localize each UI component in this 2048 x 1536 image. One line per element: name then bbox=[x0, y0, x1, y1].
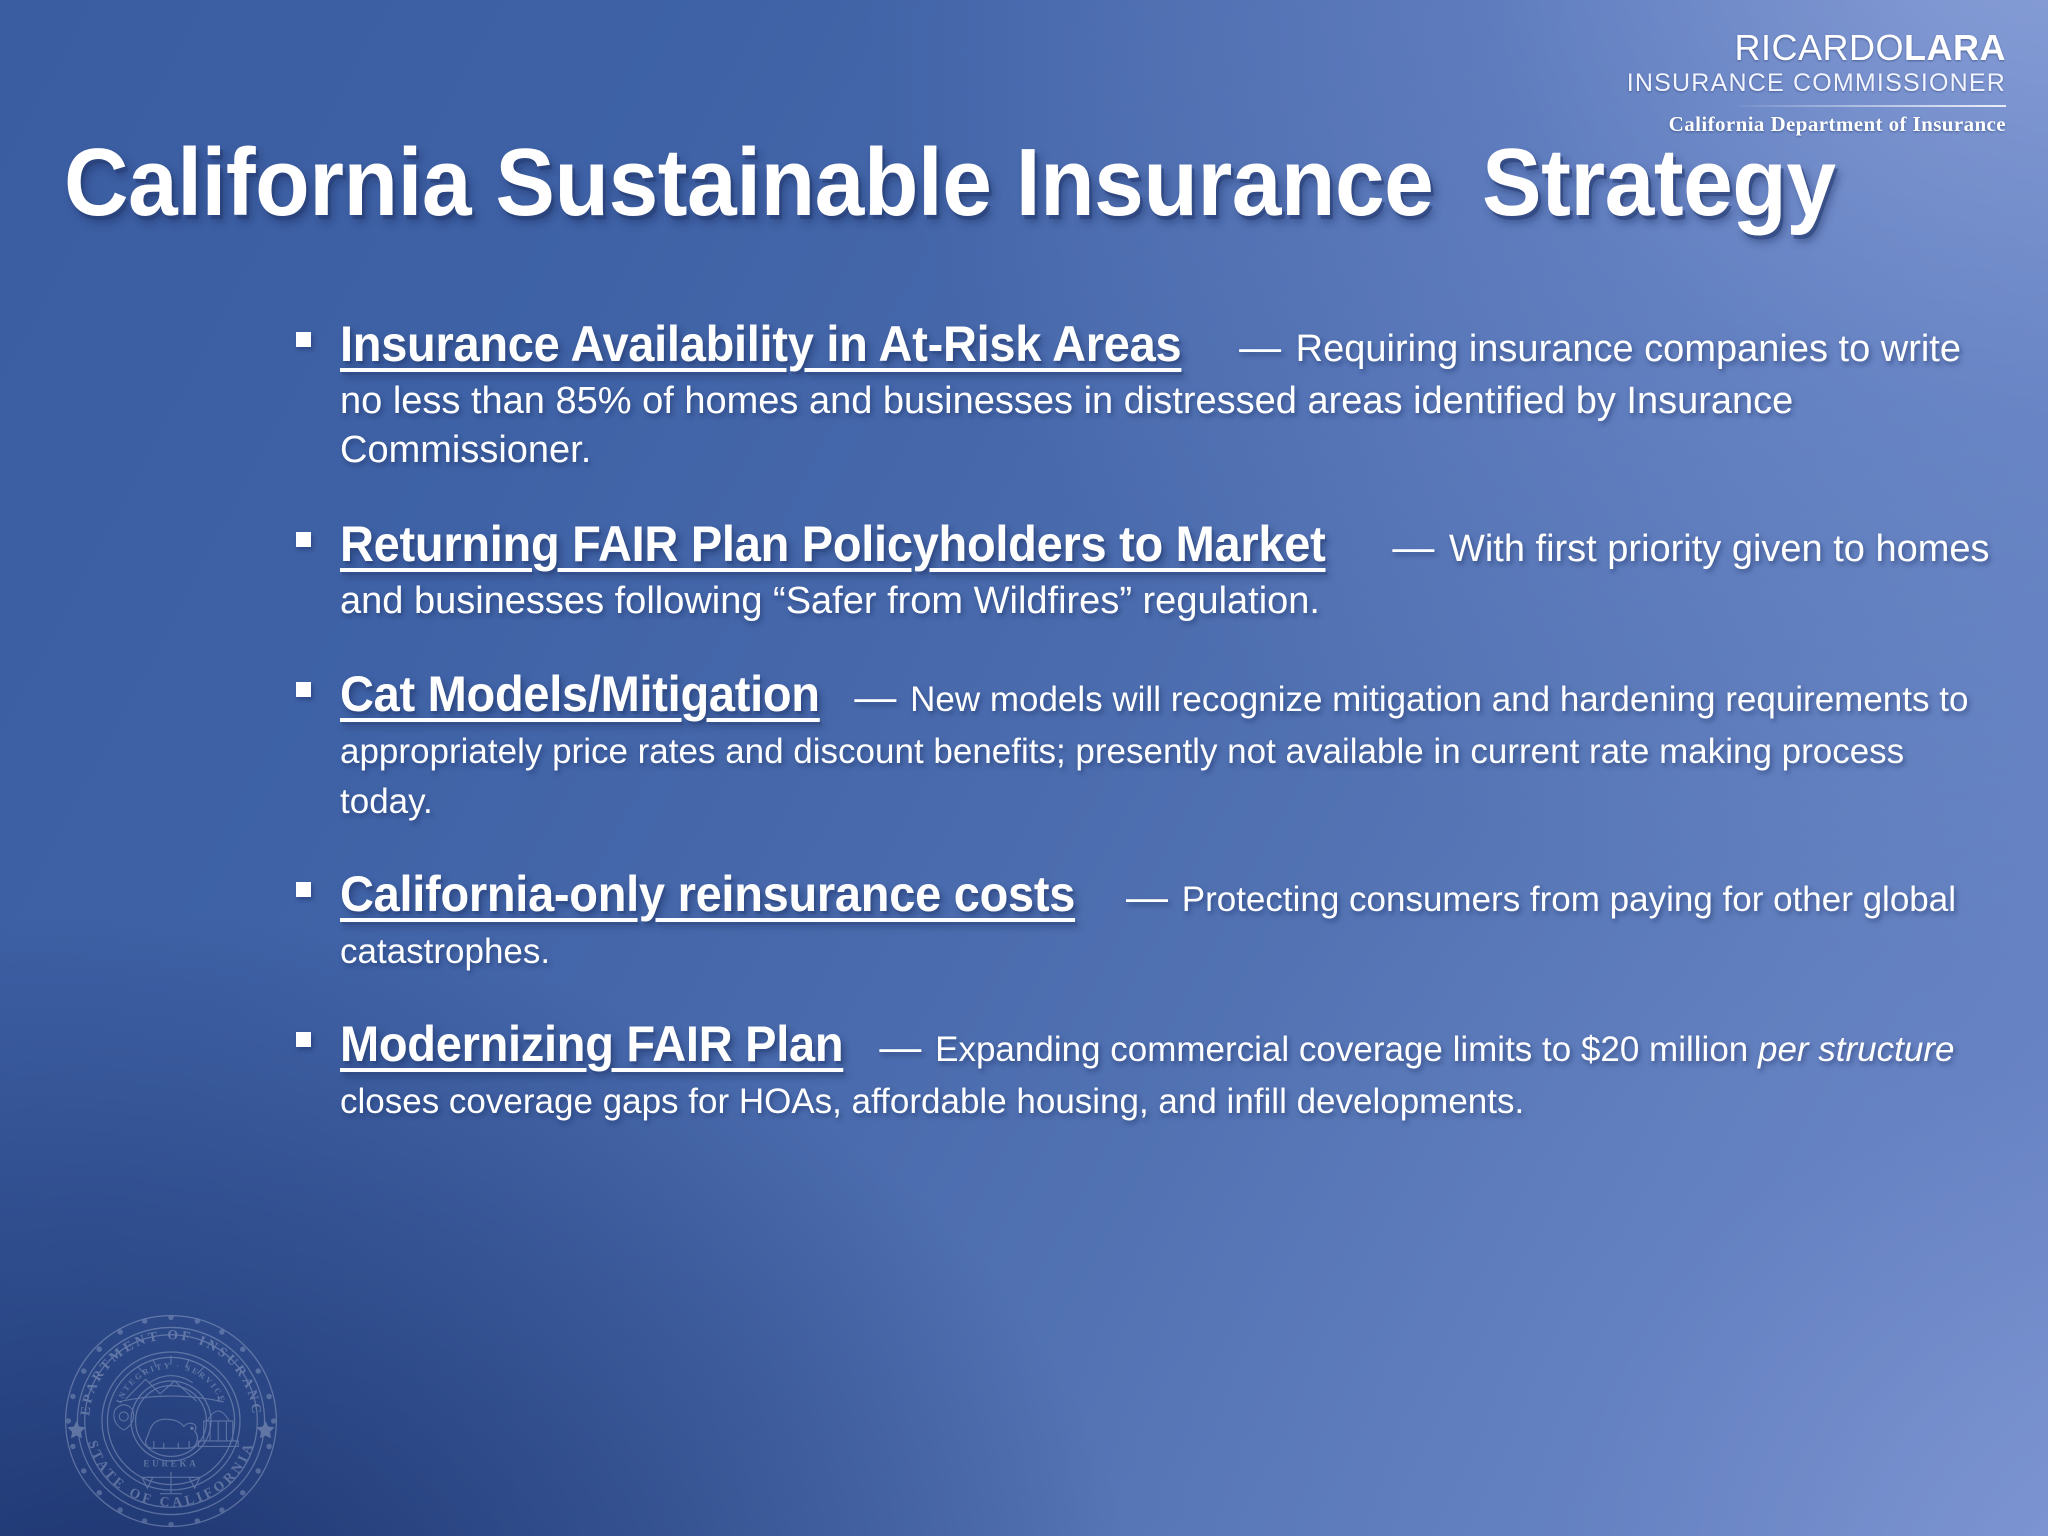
list-item: Insurance Availability in At-Risk Areas—… bbox=[290, 312, 1996, 476]
bullet-description-pre: Expanding commercial coverage limits to … bbox=[925, 1030, 1758, 1069]
seal-motto: EUREKA bbox=[143, 1458, 198, 1468]
bullet-body: California-only reinsurance costs— Prote… bbox=[340, 862, 1996, 976]
logo-divider bbox=[1738, 105, 2006, 107]
bullet-body: Insurance Availability in At-Risk Areas—… bbox=[340, 312, 1996, 476]
seal-inner-legend: INTEGRITY · SERVICE bbox=[115, 1361, 228, 1405]
commissioner-name: RICARDOLARA bbox=[1627, 30, 2006, 66]
em-dash: — bbox=[875, 1023, 925, 1070]
square-bullet-icon bbox=[296, 882, 311, 897]
page-title: California Sustainable Insurance Strateg… bbox=[64, 128, 1872, 238]
commissioner-logo: RICARDOLARA INSURANCE COMMISSIONER Calif… bbox=[1627, 30, 2006, 135]
bullet-body: Cat Models/Mitigation— New models will r… bbox=[340, 662, 1996, 826]
list-item: Returning FAIR Plan Policyholders to Mar… bbox=[290, 512, 1996, 626]
bullet-heading: California-only reinsurance costs bbox=[340, 862, 1075, 927]
em-dash: — bbox=[1235, 323, 1285, 370]
em-dash: — bbox=[1388, 523, 1438, 570]
commissioner-last-name: LARA bbox=[1904, 27, 2006, 68]
square-bullet-icon bbox=[296, 682, 311, 697]
bullet-heading: Insurance Availability in At-Risk Areas bbox=[340, 312, 1181, 377]
bullet-heading: Modernizing FAIR Plan bbox=[340, 1012, 843, 1077]
em-dash: — bbox=[1122, 873, 1172, 920]
list-item: Modernizing FAIR Plan— Expanding commerc… bbox=[290, 1012, 1996, 1126]
seal-top-legend: DEPARTMENT OF INSURANCE bbox=[62, 1312, 265, 1417]
bullet-description-post: closes coverage gaps for HOAs, affordabl… bbox=[340, 1082, 1524, 1121]
list-item: Cat Models/Mitigation— New models will r… bbox=[290, 662, 1996, 826]
list-item: California-only reinsurance costs— Prote… bbox=[290, 862, 1996, 976]
state-seal-watermark: DEPARTMENT OF INSURANCE STATE OF CALIFOR… bbox=[62, 1312, 280, 1530]
bullet-body: Returning FAIR Plan Policyholders to Mar… bbox=[340, 512, 1996, 626]
commissioner-role: INSURANCE COMMISSIONER bbox=[1627, 71, 2006, 96]
bullet-list: Insurance Availability in At-Risk Areas—… bbox=[290, 312, 1996, 1127]
svg-text:INTEGRITY · SERVICE: INTEGRITY · SERVICE bbox=[115, 1361, 228, 1405]
square-bullet-icon bbox=[296, 332, 311, 347]
bullet-heading: Returning FAIR Plan Policyholders to Mar… bbox=[340, 512, 1325, 577]
bullet-description-emphasis: per structure bbox=[1758, 1030, 1954, 1069]
bullet-heading: Cat Models/Mitigation bbox=[340, 662, 820, 727]
square-bullet-icon bbox=[296, 532, 311, 547]
em-dash: — bbox=[850, 673, 900, 720]
svg-text:DEPARTMENT OF INSURANCE: DEPARTMENT OF INSURANCE bbox=[62, 1312, 265, 1417]
presentation-slide: RICARDOLARA INSURANCE COMMISSIONER Calif… bbox=[0, 0, 2048, 1536]
square-bullet-icon bbox=[296, 1032, 311, 1047]
commissioner-first-name: RICARDO bbox=[1735, 27, 1905, 68]
bullet-body: Modernizing FAIR Plan— Expanding commerc… bbox=[340, 1012, 1996, 1126]
